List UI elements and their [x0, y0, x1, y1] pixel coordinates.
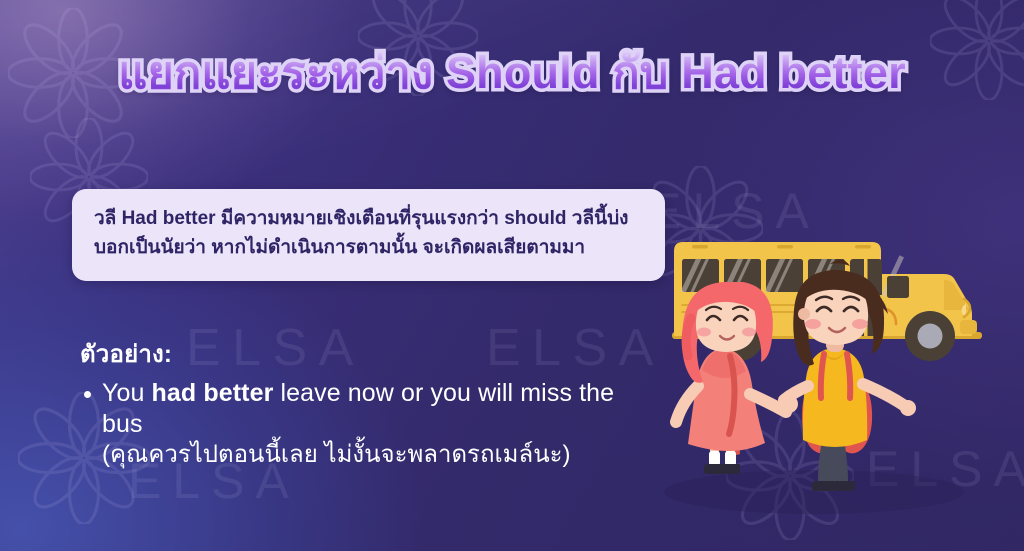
definition-callout-box: วลี Had better มีความหมายเชิงเตือนที่รุน…	[72, 189, 665, 281]
list-item: You had better leave now or you will mis…	[80, 378, 625, 469]
bullet-dot-icon	[84, 391, 91, 398]
elsa-watermark: ELSA	[866, 440, 1024, 498]
elsa-watermark: ELSA	[186, 318, 365, 378]
example-sentence-bold: had better	[152, 379, 274, 407]
page-title-fill: แยกแยะระหว่าง Should กับ Had better	[118, 47, 906, 98]
example-list: You had better leave now or you will mis…	[80, 378, 625, 469]
example-heading: ตัวอย่าง:	[80, 334, 172, 373]
rosette-decoration-icon	[726, 412, 854, 540]
example-translation: (คุณควรไปตอนนี้เลย ไม่งั้นจะพลาดรถเมล์นะ…	[102, 440, 625, 469]
definition-text: วลี Had better มีความหมายเชิงเตือนที่รุน…	[94, 205, 645, 263]
elsa-watermark: ELSA	[486, 318, 665, 378]
page-title: แยกแยะระหว่าง Should กับ Had better แยกแ…	[118, 46, 906, 99]
title-container: แยกแยะระหว่าง Should กับ Had better แยกแ…	[0, 46, 1024, 99]
infographic-canvas: ELSA ELSA ELSA ELSA ELSA แยกแยะระหว่าง S…	[0, 0, 1024, 551]
example-sentence-before: You	[102, 379, 152, 407]
elsa-watermark: ELSA	[648, 182, 820, 240]
